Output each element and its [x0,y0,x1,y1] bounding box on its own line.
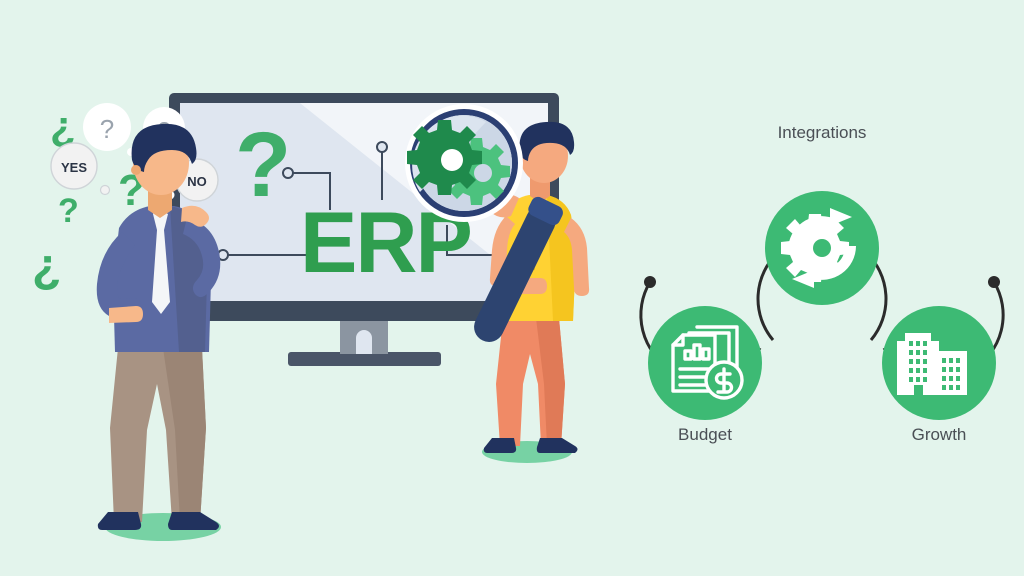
magnifier-gear-front [407,120,482,195]
benefit-growth[interactable]: Growth [882,306,996,444]
illustration-canvas: ? ERP ¿ ? ? ¿ ? ? YES [0,0,1024,576]
magnifier-man-shoe-left [484,438,516,453]
businessman-shoe-left [98,512,141,530]
businessman-shoe-right [168,512,219,530]
magnifier-man-shoe-right [537,438,578,453]
businessman-hand-left [109,306,143,323]
budget-label: Budget [678,425,732,444]
budget-circle[interactable] [648,306,762,420]
bubble-yes-text: YES [61,160,87,175]
businessman-ear [131,165,141,175]
bubble-yes-dot [101,186,110,195]
monitor-stand-arch [356,330,372,354]
benefit-budget[interactable]: Budget [648,306,762,444]
benefits-cluster: Integrations [620,120,1024,460]
left-scene: ? ERP ¿ ? ? ¿ ? ? YES [0,0,620,576]
integrations-label: Integrations [778,123,867,142]
mark-question-small: ? [58,192,79,230]
growth-label: Growth [912,425,967,444]
mark-inverted-question-top: ¿ [50,102,76,149]
mark-question-screen-large: ? [235,114,291,216]
benefit-integrations[interactable]: Integrations [765,123,879,305]
monitor-base [288,352,441,366]
mark-inverted-question-bottom: ¿ [32,240,61,293]
bubble-no-text: NO [187,174,207,189]
bubble-question-1-text: ? [100,114,114,144]
